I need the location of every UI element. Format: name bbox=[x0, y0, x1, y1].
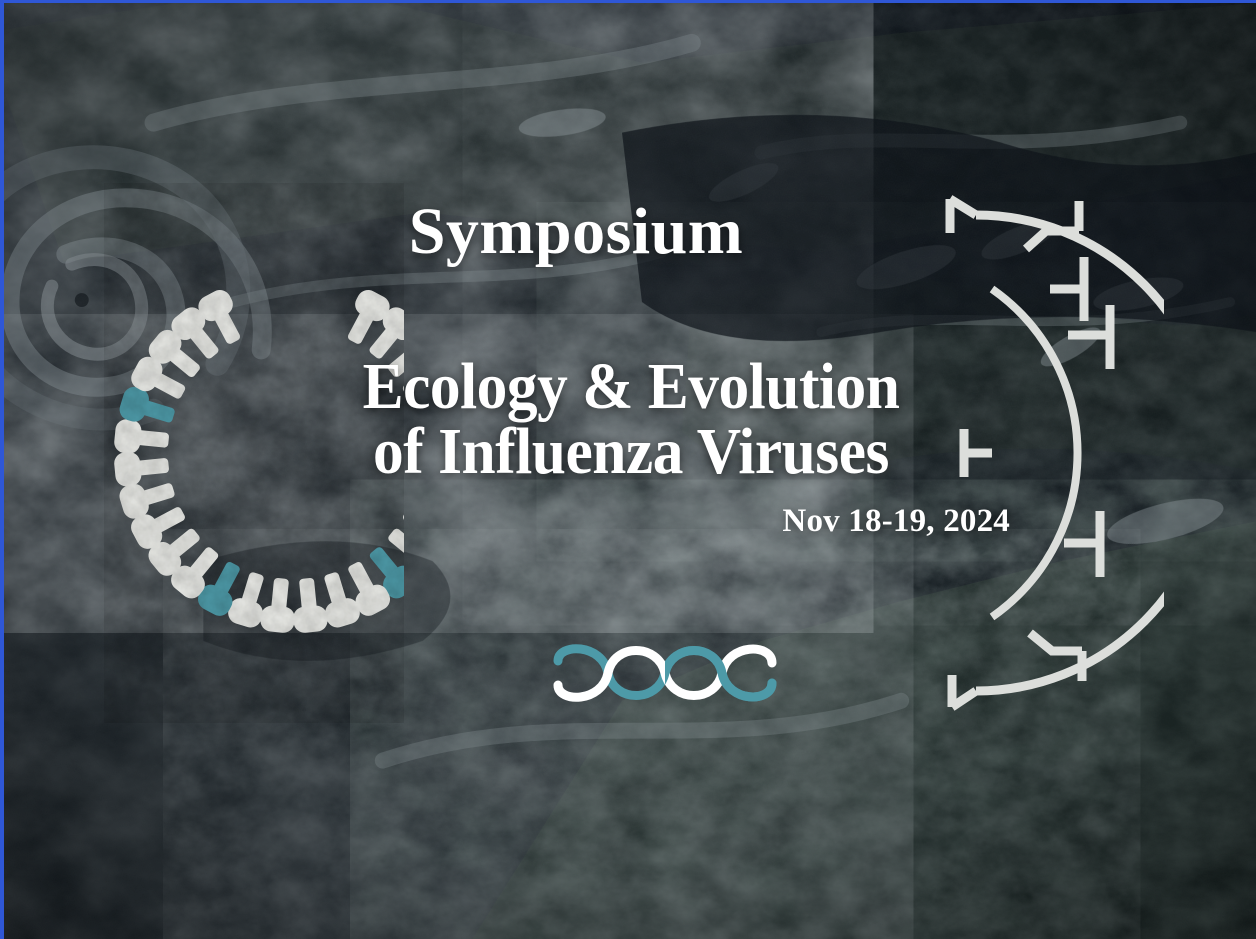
dna-double-helix-logo bbox=[552, 633, 778, 713]
influenza-spike-protein-arc bbox=[104, 183, 404, 723]
phylogenetic-tree-arc bbox=[934, 193, 1164, 713]
symposium-poster: Symposium Ecology & Evolution of Influen… bbox=[0, 0, 1256, 939]
spike-texture-overlay bbox=[104, 183, 404, 723]
